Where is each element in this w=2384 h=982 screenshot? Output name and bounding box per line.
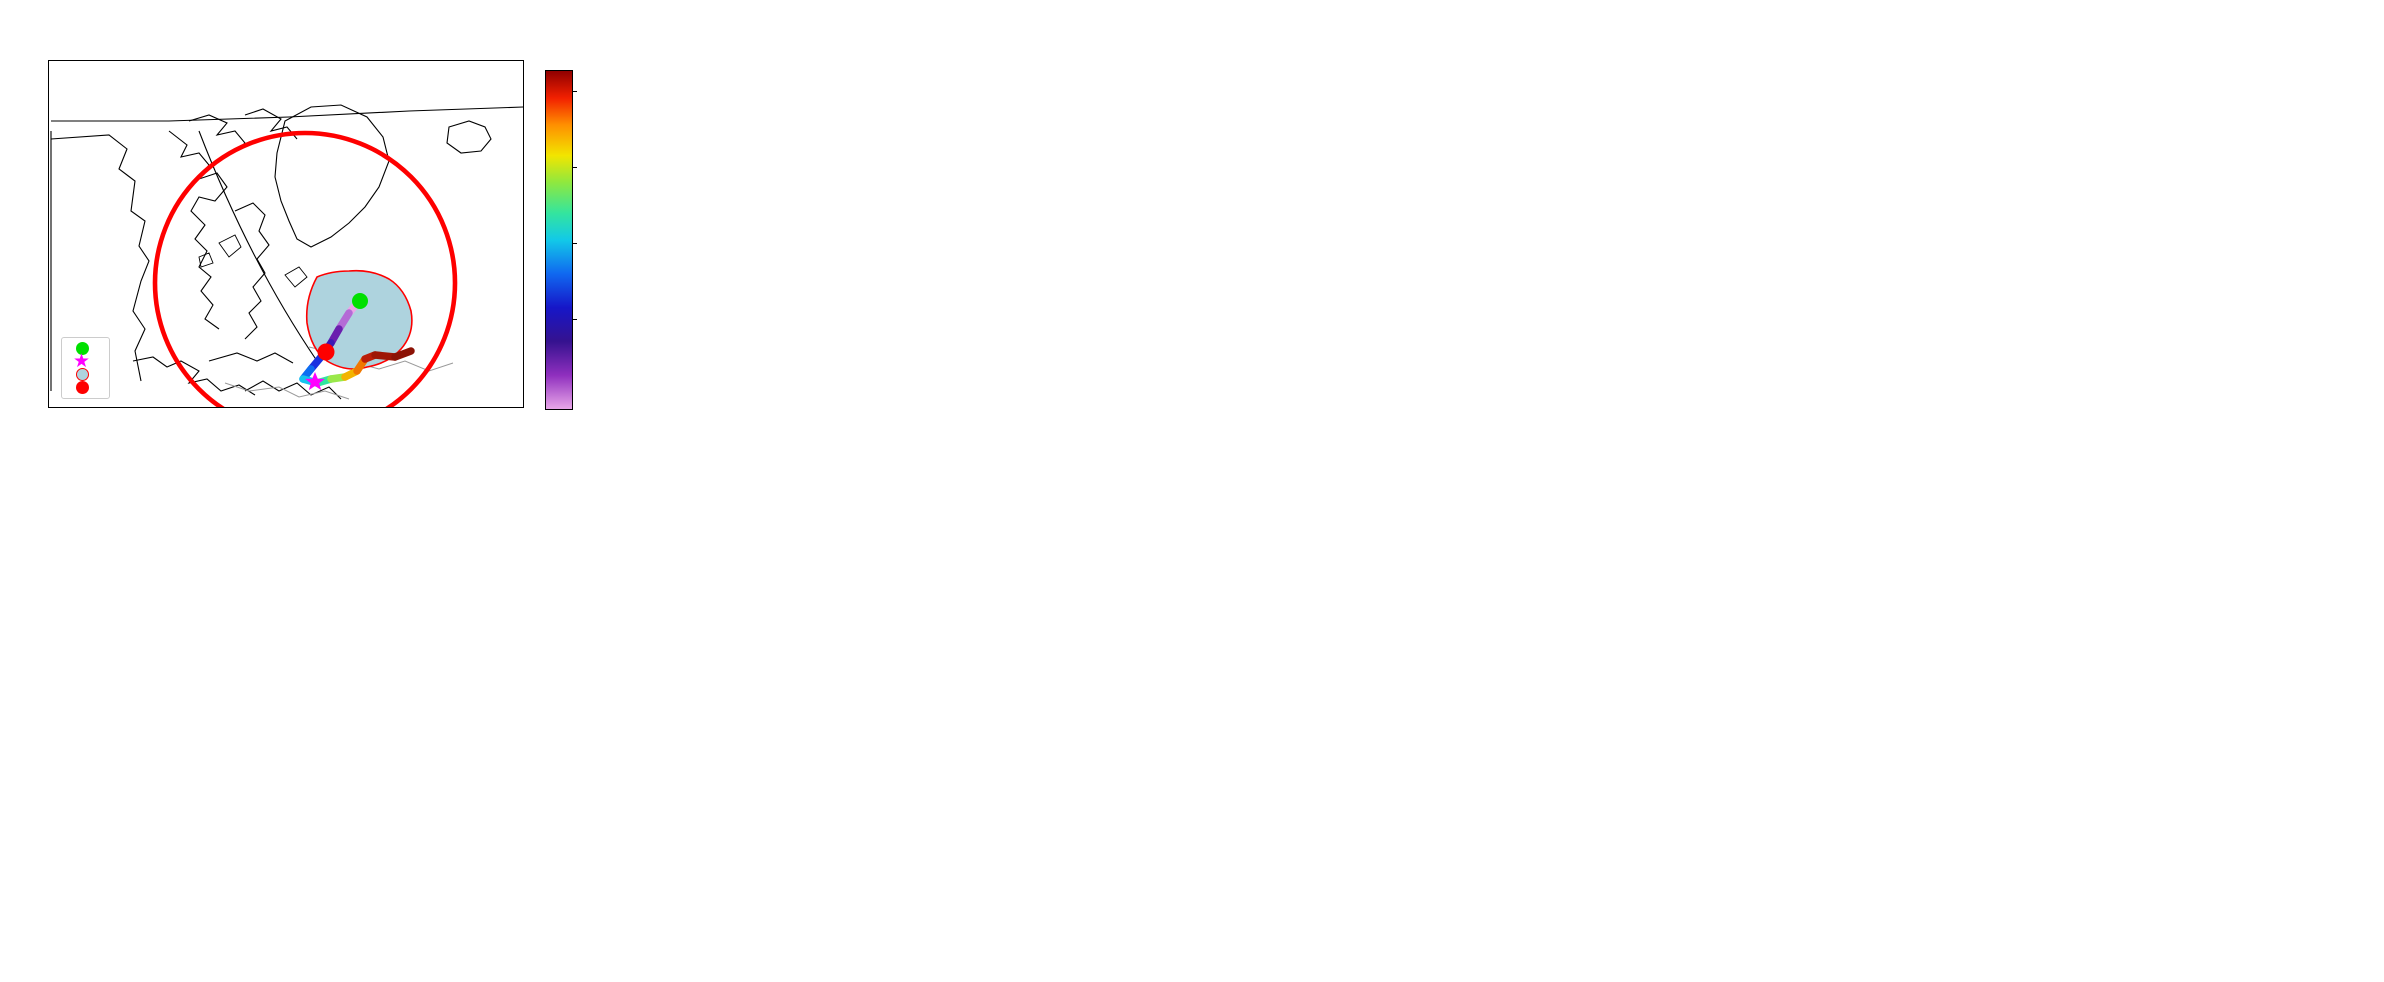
tpv-start-marker [352, 293, 368, 309]
cbar-tickmark-298 [572, 167, 577, 168]
map-legend-item-goose-bay [70, 381, 101, 394]
goose-bay-icon [76, 381, 89, 394]
map-legend: ★ [61, 337, 110, 399]
map-plot-area[interactable]: ★ [48, 60, 524, 408]
flight-radius-circle [155, 133, 455, 408]
goose-bay-marker [318, 344, 335, 361]
trpt-colorbar [545, 70, 573, 410]
cbar-tickmark-296 [572, 243, 577, 244]
map-legend-item-daily-marker: ★ [70, 355, 101, 368]
page-title [0, 8, 2384, 32]
ensemble-75-icon [76, 368, 89, 381]
daily-marker-icon: ★ [73, 355, 90, 368]
tpv-track-map-panel: ★ [48, 60, 524, 408]
colorbar-panel [545, 70, 665, 408]
cbar-tickmark-300 [572, 91, 577, 92]
map-graphic [49, 61, 524, 408]
cbar-tickmark-294 [572, 319, 577, 320]
